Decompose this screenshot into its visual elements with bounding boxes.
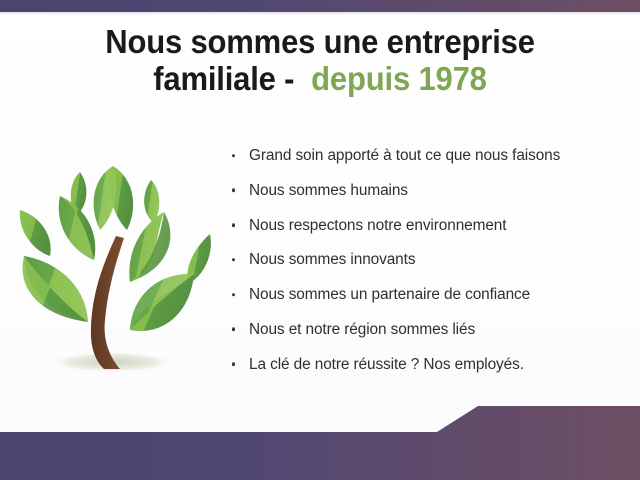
list-item-label: Nous sommes un partenaire de confiance: [249, 286, 530, 303]
title-line-2: familiale - depuis 1978: [19, 61, 621, 98]
bullet-dot-icon: [232, 258, 235, 261]
title-line-2-black: familiale -: [153, 60, 294, 97]
list-item-label: Nous sommes humains: [249, 182, 408, 199]
brand-bar-shape: [0, 406, 640, 480]
brand-footer-bar: TABOR tabor-automobiles.fr: [0, 398, 640, 480]
title-line-2-accent: depuis 1978: [311, 60, 487, 97]
list-item: Nous respectons notre environnement: [228, 216, 628, 235]
bullet-dot-icon: [232, 189, 235, 192]
list-item: Grand soin apporté à tout ce que nous fa…: [228, 146, 628, 165]
page-title: Nous sommes une entreprise familiale - d…: [0, 24, 640, 98]
list-item: Nous sommes innovants: [228, 250, 628, 269]
title-line-1: Nous sommes une entreprise: [19, 24, 621, 61]
bullet-dot-icon: [232, 362, 235, 365]
list-item: Nous sommes humains: [228, 181, 628, 200]
leaf-top-center-b: [94, 166, 117, 230]
bullet-dot-icon: [232, 328, 235, 331]
bullet-dot-icon: [232, 154, 235, 157]
bullet-dot-icon: [232, 223, 235, 226]
top-accent-strip: [0, 0, 640, 12]
list-item: Nous et notre région sommes liés: [228, 320, 628, 339]
leaf-far-left-upper: [20, 210, 51, 256]
list-item: Nous sommes un partenaire de confiance: [228, 285, 628, 304]
leaf-upper-right-small: [144, 180, 159, 223]
list-item: La clé de notre réussite ? Nos employés.: [228, 355, 628, 374]
list-item-label: Grand soin apporté à tout ce que nous fa…: [249, 147, 560, 164]
slide-canvas: Nous sommes une entreprise familiale - d…: [0, 0, 640, 480]
tree-illustration: [8, 150, 223, 395]
list-item-label: La clé de notre réussite ? Nos employés.: [249, 356, 524, 373]
list-item-label: Nous et notre région sommes liés: [249, 321, 475, 338]
leaf-far-right-upper: [187, 234, 211, 284]
list-item-label: Nous sommes innovants: [249, 251, 415, 268]
list-item-label: Nous respectons notre environnement: [249, 217, 506, 234]
tree-trunk: [91, 236, 124, 369]
bullet-dot-icon: [232, 293, 235, 296]
benefits-list: Grand soin apporté à tout ce que nous fa…: [228, 146, 628, 389]
top-accent-strip-shadow: [0, 12, 640, 15]
